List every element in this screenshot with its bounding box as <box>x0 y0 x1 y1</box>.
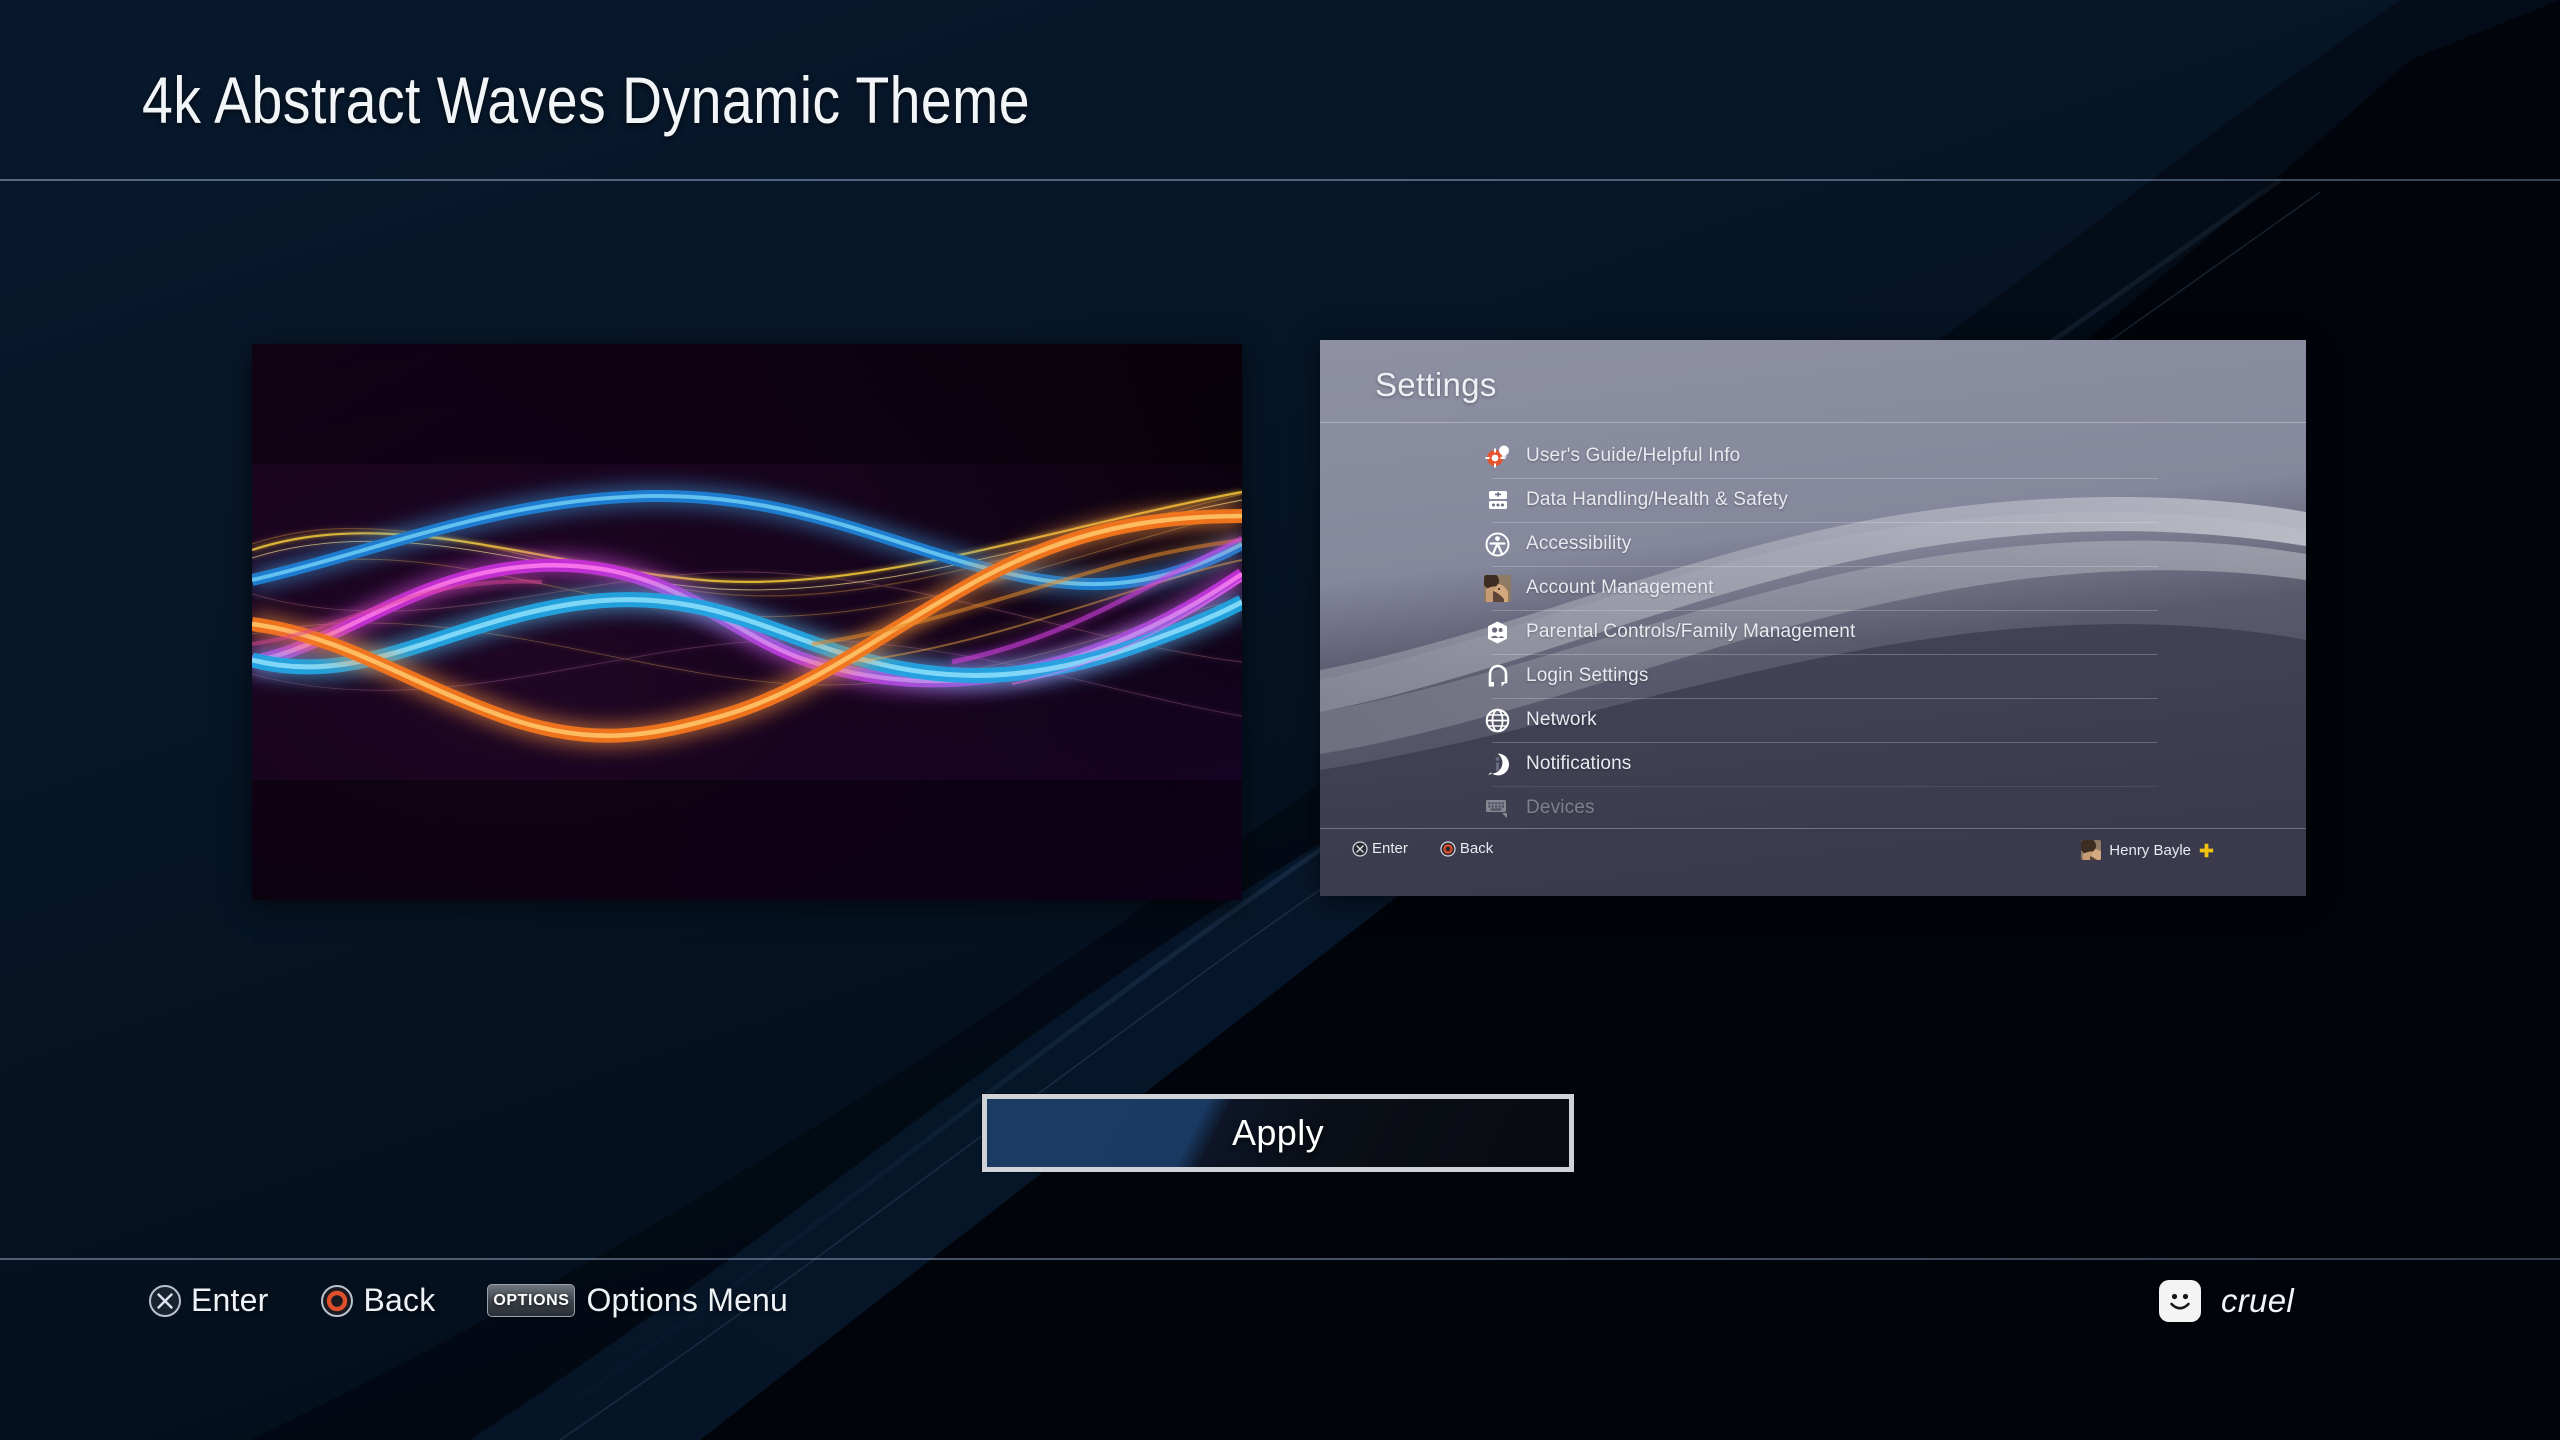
header-divider <box>0 179 2560 181</box>
settings-item-login-settings[interactable]: Login Settings <box>1320 654 2306 698</box>
account-username: cruel <box>2221 1282 2294 1320</box>
settings-panel-title: Settings <box>1375 366 1497 404</box>
accessibility-icon <box>1484 531 1511 558</box>
keyboard-icon <box>1484 795 1511 822</box>
hint-enter[interactable]: Enter <box>148 1282 268 1319</box>
settings-item-devices[interactable]: Devices <box>1320 786 2306 830</box>
avatar <box>1484 575 1511 602</box>
hint-options-menu[interactable]: OPTIONS Options Menu <box>487 1282 788 1319</box>
settings-item-notifications[interactable]: Notifications <box>1320 742 2306 786</box>
lifebuoy-bulb-icon <box>1484 443 1511 470</box>
settings-item-label: Notifications <box>1526 753 1631 775</box>
settings-item-users-guide[interactable]: User's Guide/Helpful Info <box>1320 434 2306 478</box>
settings-item-account-management[interactable]: Account Management <box>1320 566 2306 610</box>
settings-item-label: Accessibility <box>1526 533 1631 555</box>
circle-button-icon <box>320 1284 354 1318</box>
parental-shield-icon <box>1484 619 1511 646</box>
cross-button-icon <box>1352 841 1368 857</box>
globe-icon <box>1484 707 1511 734</box>
options-key-icon: OPTIONS <box>487 1284 575 1317</box>
settings-item-label: Devices <box>1526 797 1595 819</box>
hint-label: Options Menu <box>586 1282 788 1319</box>
settings-item-data-handling[interactable]: Data Handling/Health & Safety <box>1320 478 2306 522</box>
settings-hint-enter: Enter <box>1352 840 1408 857</box>
bottom-bar-hints: Enter Back OPTIONS Options Menu <box>148 1282 788 1319</box>
page-title: 4k Abstract Waves Dynamic Theme <box>142 62 1030 138</box>
user-avatar-icon <box>1484 575 1511 602</box>
data-server-icon <box>1484 487 1511 514</box>
header: 4k Abstract Waves Dynamic Theme <box>0 0 2560 180</box>
abstract-waves-wallpaper <box>252 344 1242 900</box>
circle-button-icon <box>1440 841 1456 857</box>
login-arrow-icon <box>1484 663 1511 690</box>
settings-hint-label: Back <box>1460 840 1493 857</box>
settings-item-label: Login Settings <box>1526 665 1649 687</box>
settings-panel-footer: Enter Back <box>1320 829 2306 896</box>
settings-item-parental-controls[interactable]: Parental Controls/Family Management <box>1320 610 2306 654</box>
cross-button-icon <box>148 1284 182 1318</box>
smiley-avatar-icon <box>2159 1280 2201 1322</box>
hint-label: Enter <box>191 1282 268 1319</box>
wallpaper-preview[interactable] <box>252 344 1242 900</box>
apply-button-label: Apply <box>1232 1112 1324 1154</box>
settings-item-label: Account Management <box>1526 577 1714 599</box>
ps-plus-icon <box>2199 843 2214 858</box>
info-bubble-icon <box>1484 751 1511 778</box>
settings-item-label: Data Handling/Health & Safety <box>1526 489 1788 511</box>
settings-panel-preview[interactable]: Settings User's <box>1320 340 2306 896</box>
ps4-theme-preview-screen: 4k Abstract Waves Dynamic Theme <box>0 0 2560 1440</box>
settings-panel-username: Henry Bayle <box>2109 842 2191 859</box>
user-avatar-icon <box>2081 840 2101 860</box>
settings-hint-back: Back <box>1440 840 1493 857</box>
settings-panel-user: Henry Bayle <box>2081 840 2214 860</box>
settings-panel-title-divider <box>1320 422 2306 423</box>
hint-back[interactable]: Back <box>320 1282 435 1319</box>
hint-label: Back <box>363 1282 435 1319</box>
settings-hint-label: Enter <box>1372 840 1408 857</box>
settings-item-label: Network <box>1526 709 1597 731</box>
settings-item-network[interactable]: Network <box>1320 698 2306 742</box>
account-area[interactable]: cruel <box>2159 1280 2294 1322</box>
settings-menu-list: User's Guide/Helpful Info Data Handling/… <box>1320 434 2306 830</box>
bottom-bar: Enter Back OPTIONS Options Menu <box>0 1260 2560 1440</box>
settings-item-label: User's Guide/Helpful Info <box>1526 445 1740 467</box>
apply-button[interactable]: Apply <box>982 1094 1574 1172</box>
settings-item-label: Parental Controls/Family Management <box>1526 621 1855 643</box>
settings-item-accessibility[interactable]: Accessibility <box>1320 522 2306 566</box>
